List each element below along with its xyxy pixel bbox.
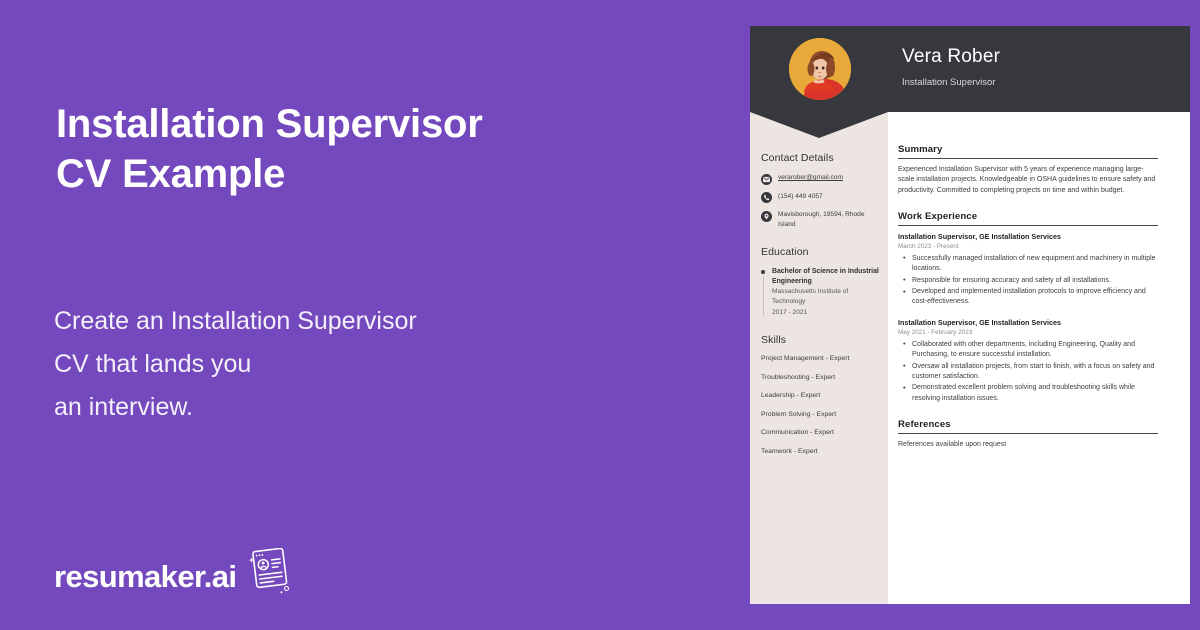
skill-item: Troubleshooting - Expert [761, 374, 879, 381]
education-degree: Bachelor of Science in Industrial Engine… [772, 267, 879, 286]
summary-text: Experienced Installation Supervisor with… [898, 165, 1158, 197]
promo-panel: Installation Supervisor CV Example Creat… [0, 0, 750, 630]
subheading-line-1: Create an Installation Supervisor [54, 300, 614, 343]
contact-section: Contact Details verarober@gmail.com (154… [761, 152, 879, 229]
subheading-line-2: CV that lands you [54, 343, 614, 386]
contact-address: Mavisborough, 19594, Rhode Island [778, 210, 879, 229]
job-entry: Installation Supervisor, GE Installation… [898, 232, 1158, 308]
job-title: Installation Supervisor, GE Installation… [898, 318, 1158, 328]
resumaker-logo[interactable]: resumaker.ai [54, 548, 291, 594]
job-bullet: Developed and implemented installation p… [898, 287, 1158, 308]
education-school: Massachusetts Institute of Technology [772, 287, 879, 306]
cv-main-content: Summary Experienced Installation Supervi… [898, 144, 1158, 465]
headline-line-1: Installation Supervisor [56, 102, 483, 146]
phone-icon [761, 192, 772, 203]
job-bullet: Demonstrated excellent problem solving a… [898, 383, 1158, 404]
job-date: March 2023 - Present [898, 242, 1158, 252]
promo-subheading: Create an Installation Supervisor CV tha… [54, 300, 614, 429]
job-bullet: Collaborated with other departments, inc… [898, 340, 1158, 361]
cv-sidebar-content: Contact Details verarober@gmail.com (154… [761, 152, 879, 466]
job-entry: Installation Supervisor, GE Installation… [898, 318, 1158, 404]
job-bullet: Responsible for ensuring accuracy and sa… [898, 276, 1158, 286]
contact-email-row[interactable]: verarober@gmail.com [761, 173, 879, 185]
skills-section: Skills Project Management - Expert Troub… [761, 334, 879, 455]
references-section: References References available upon req… [898, 419, 1158, 450]
job-title: Installation Supervisor, GE Installation… [898, 232, 1158, 242]
avatar [789, 38, 851, 100]
references-text: References available upon request [898, 440, 1158, 451]
references-heading: References [898, 419, 1158, 434]
skill-item: Communication - Expert [761, 429, 879, 436]
job-bullet-list: Successfully managed installation of new… [898, 254, 1158, 308]
summary-heading: Summary [898, 144, 1158, 159]
skill-item: Teamwork - Expert [761, 448, 879, 455]
summary-section: Summary Experienced Installation Supervi… [898, 144, 1158, 196]
job-date: May 2021 - February 2023 [898, 328, 1158, 338]
cv-header-banner: Vera Rober Installation Supervisor [750, 26, 1190, 112]
education-item: Bachelor of Science in Industrial Engine… [761, 267, 879, 317]
work-experience-heading: Work Experience [898, 211, 1158, 226]
envelope-icon [761, 174, 772, 185]
resume-document-icon [239, 548, 291, 594]
location-pin-icon [761, 211, 772, 222]
skill-item: Project Management - Expert [761, 355, 879, 362]
contact-phone-row[interactable]: (154) 449 4057 [761, 192, 879, 204]
page-title: Installation Supervisor CV Example [56, 99, 616, 199]
contact-address-row[interactable]: Mavisborough, 19594, Rhode Island [761, 210, 879, 229]
headline-line-2: CV Example [56, 149, 616, 199]
bullet-dot-icon [761, 270, 765, 274]
job-bullet: Successfully managed installation of new… [898, 254, 1158, 275]
job-bullet-list: Collaborated with other departments, inc… [898, 340, 1158, 404]
contact-phone: (154) 449 4057 [778, 192, 879, 202]
skill-item: Problem Solving - Expert [761, 411, 879, 418]
cv-name: Vera Rober [902, 46, 1000, 68]
job-bullet: Oversaw all installation projects, from … [898, 362, 1158, 383]
skill-item: Leadership - Expert [761, 392, 879, 399]
contact-email[interactable]: verarober@gmail.com [778, 173, 879, 183]
work-experience-section: Work Experience Installation Supervisor,… [898, 211, 1158, 404]
education-years: 2017 - 2021 [772, 308, 879, 318]
logo-wordmark: resumaker.ai [54, 560, 236, 594]
education-heading: Education [761, 246, 879, 258]
timeline-rule [763, 276, 764, 316]
education-section: Education Bachelor of Science in Industr… [761, 246, 879, 317]
cv-preview-card[interactable]: Vera Rober Installation Supervisor Conta… [750, 26, 1190, 604]
subheading-line-3: an interview. [54, 386, 614, 429]
cv-role: Installation Supervisor [902, 77, 995, 88]
skills-heading: Skills [761, 334, 879, 346]
contact-heading: Contact Details [761, 152, 879, 164]
